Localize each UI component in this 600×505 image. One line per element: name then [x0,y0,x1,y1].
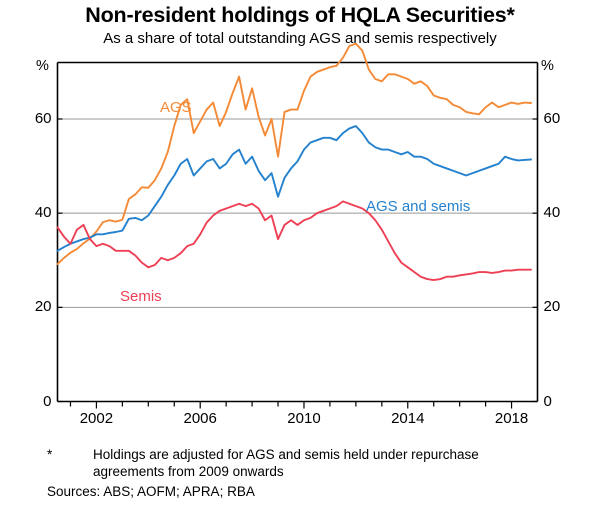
series-lines [58,44,532,280]
y-axis-tick-label: 40 [22,204,52,221]
y-axis-tick-label-right: 20 [544,298,574,315]
y-axis-tick-label: 20 [22,298,52,315]
footnote-text: Holdings are adjusted for AGS and semis … [93,446,543,480]
x-axis-tick-label: 2010 [274,410,334,427]
x-axis-tick-label: 2018 [482,410,542,427]
chart-plot-area [0,0,600,505]
series-label-semis: Semis [120,288,162,305]
y-axis-tick-label-right: 40 [544,204,574,221]
y-axis-tick-label-right: 0 [544,393,574,410]
x-axis-tick-label: 2014 [378,410,438,427]
axis-frame [58,63,538,402]
footnote-marker: * [47,447,52,462]
series-label-ags-and-semis: AGS and semis [366,198,470,215]
series-label-ags: AGS [160,99,192,116]
y-axis-tick-label-right: 60 [544,110,574,127]
x-axis-tick-label: 2006 [170,410,230,427]
y-axis-tick-label: 0 [22,393,52,410]
sources-text: Sources: ABS; AOFM; APRA; RBA [47,484,255,499]
x-axis-tick-label: 2002 [66,410,126,427]
y-axis-tick-label: 60 [22,110,52,127]
chart-container: Non-resident holdings of HQLA Securities… [0,0,600,505]
x-axis-ticks [70,402,511,409]
